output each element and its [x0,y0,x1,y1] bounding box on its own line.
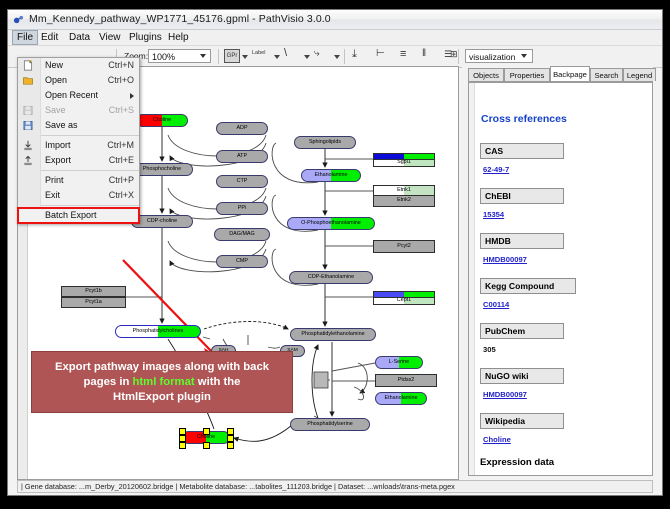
menu-item-new-accel: Ctrl+N [108,58,134,73]
line-tool-button[interactable]: \ [284,47,287,59]
menu-item-import-label: Import [45,138,71,153]
selection-handle[interactable] [227,435,234,442]
pathvisio-icon [13,14,24,25]
menu-item-exit-label: Exit [45,188,60,203]
node-ethanolamine-bottom[interactable]: Ethanolamine [375,392,427,405]
node-etnk1[interactable]: Etnk1 [373,185,435,196]
backpage-content[interactable]: Cross references CAS 62-49-7 ChEBI 15354… [468,82,653,476]
window-title: Mm_Kennedy_pathway_WP1771_45176.gpml - P… [29,13,331,25]
anchor-tool-button[interactable]: ⤷ [314,48,320,59]
node-l-serine[interactable]: L-Serine [375,356,423,369]
chevron-down-icon[interactable] [334,55,340,59]
node-dag-mag[interactable]: DAG/MAG [214,228,270,241]
cross-references-heading: Cross references [481,113,567,125]
node-ctp[interactable]: CTP [216,175,268,188]
menu-item-save-label: Save [45,103,66,118]
distribute-tool-button[interactable]: ‖ [422,48,426,59]
save-disk-icon [22,105,34,116]
selection-handle[interactable] [179,435,186,442]
node-choline-top[interactable]: Choline [136,114,188,127]
menu-help[interactable]: Help [164,31,193,44]
section-cas-label: CAS [480,143,564,159]
menu-item-exit-accel: Ctrl+X [109,188,134,203]
label-tool-button[interactable]: Label [252,50,265,56]
menu-view[interactable]: View [95,31,125,44]
tab-properties[interactable]: Properties [504,68,550,81]
menu-file[interactable]: File [12,30,38,45]
menu-item-export[interactable]: Export Ctrl+E [18,153,139,168]
section-wikipedia-label: Wikipedia [480,413,564,429]
selection-handle[interactable] [203,428,210,435]
chevron-right-icon [130,93,134,99]
node-etnk2[interactable]: Etnk2 [373,196,435,207]
chevron-down-icon[interactable] [242,55,248,59]
menu-item-print[interactable]: Print Ctrl+P [18,173,139,188]
section-chebi-link[interactable]: 15354 [483,210,504,219]
section-cas-link[interactable]: 62-49-7 [483,165,509,174]
node-phosphatidylethanolamine[interactable]: Phosphatidylethanolamine [290,328,376,341]
selection-handle[interactable] [179,428,186,435]
visualization-tool-button[interactable]: ⊞ [450,49,458,60]
node-pcyt2[interactable]: Pcyt2 [373,240,435,253]
backpage-scrollbar[interactable] [469,83,475,475]
menu-separator [40,170,139,171]
menu-bar: File Edit Data View Plugins Help [8,30,662,46]
stack-tool-button[interactable]: ≡ [400,48,406,60]
geneproduct-tool-button[interactable]: GPr [224,49,240,63]
chevron-down-icon[interactable] [521,54,527,58]
align-left-tool-button[interactable]: ⊢ [376,48,385,59]
annotation-line1: Export pathway images along with back [55,361,269,373]
menu-item-batch-export[interactable]: Batch Export [18,208,139,223]
menu-plugins[interactable]: Plugins [125,31,166,44]
toolbar-separator [458,49,459,64]
node-pcyt1b[interactable]: Pcyt1b [61,286,126,297]
annotation-text: Export pathway images along with back pa… [49,360,275,405]
node-cmp[interactable]: CMP [216,255,268,268]
menu-item-new-label: New [45,58,63,73]
menu-item-open[interactable]: Open Ctrl+O [18,73,139,88]
menu-separator [40,205,139,206]
section-kegg-label: Kegg Compound [480,278,576,294]
node-ethanolamine-top[interactable]: Ethanolamine [301,169,361,182]
section-nugo-link[interactable]: HMDB00097 [483,390,527,399]
node-phosphatidylserine[interactable]: Phosphatidylserine [290,418,370,431]
save-as-icon [22,120,34,131]
align-top-tool-button[interactable]: ⤓ [352,48,357,61]
node-pcyt1a[interactable]: Pcyt1a [61,297,126,308]
menu-data[interactable]: Data [65,31,94,44]
annotation-callout: Export pathway images along with back pa… [31,351,293,413]
node-ptdss2[interactable]: Ptdss2 [375,374,437,387]
section-hmdb-label: HMDB [480,233,564,249]
menu-item-print-accel: Ctrl+P [109,173,134,188]
chevron-down-icon[interactable] [274,55,280,59]
annotation-line3: HtmlExport plugin [113,391,211,403]
section-kegg-link[interactable]: C00114 [483,300,509,309]
selection-handle[interactable] [227,442,234,449]
node-cdp-choline[interactable]: CDP-choline [131,215,193,228]
selection-handle[interactable] [179,442,186,449]
node-sgpl1-top[interactable] [373,153,435,160]
annotation-line2a: pages in [84,376,133,388]
section-hmdb-link[interactable]: HMDB00097 [483,255,527,264]
chevron-down-icon[interactable] [200,54,206,58]
menu-item-print-label: Print [45,173,64,188]
screenshot-root: Mm_Kennedy_pathway_WP1771_45176.gpml - P… [0,0,670,509]
menu-separator [40,135,139,136]
menu-item-open-label: Open [45,73,67,88]
title-bar: Mm_Kennedy_pathway_WP1771_45176.gpml - P… [8,10,662,30]
chevron-down-icon[interactable] [304,55,310,59]
section-wikipedia-link[interactable]: Choline [483,435,511,444]
toolbar-separator [344,49,345,64]
menu-item-open-accel: Ctrl+O [108,73,134,88]
menu-item-import[interactable]: Import Ctrl+M [18,138,139,153]
expression-data-heading: Expression data [480,457,554,468]
tab-objects[interactable]: Objects [468,68,504,81]
node-sphingolipids[interactable]: Sphingolipids [294,136,356,149]
status-bar: | Gene database: ...m_Derby_20120602.bri… [17,480,653,493]
toolbar-separator [218,49,219,64]
import-icon [22,140,34,151]
menu-item-save-as[interactable]: Save as [18,118,139,133]
node-o-phosphoethanolamine[interactable]: O-Phosphoethanolamine [287,217,375,230]
menu-edit[interactable]: Edit [37,31,62,44]
node-cept1[interactable]: Cept1 [373,298,435,305]
section-chebi-label: ChEBI [480,188,564,204]
side-panel: Objects Properties Backpage Search Legen… [462,66,653,478]
menu-item-save-accel: Ctrl+S [109,103,134,118]
menu-item-save: Save Ctrl+S [18,103,139,118]
menu-item-exit[interactable]: Exit Ctrl+X [18,188,139,203]
interaction-node [314,372,328,388]
menu-item-export-label: Export [45,153,71,168]
menu-item-open-recent-label: Open Recent [45,88,98,103]
section-pubchem-value: 305 [483,345,496,354]
node-ppi[interactable]: PPi [216,202,268,215]
file-menu-dropdown[interactable]: New Ctrl+N Open Ctrl+O Open Recent [17,57,140,224]
node-phosphatidylcholines[interactable]: Phosphatidylcholines [115,325,201,338]
node-phosphocholine[interactable]: Phosphocholine [131,163,193,176]
new-document-icon [22,60,34,71]
section-pubchem-label: PubChem [480,323,564,339]
menu-item-save-as-label: Save as [45,118,78,133]
menu-item-import-accel: Ctrl+M [107,138,134,153]
menu-item-export-accel: Ctrl+E [109,153,134,168]
node-adp[interactable]: ADP [216,122,268,135]
section-nugo-label: NuGO wiki [480,368,564,384]
annotation-line2c: with the [195,376,241,388]
node-cdp-ethanolamine[interactable]: CDP-Ethanolamine [289,271,373,284]
application-window: Mm_Kennedy_pathway_WP1771_45176.gpml - P… [7,9,663,496]
open-folder-icon [22,75,34,86]
menu-item-batch-export-label: Batch Export [45,208,97,223]
node-cept1-top[interactable] [373,291,435,298]
node-atp[interactable]: ATP [216,150,268,163]
node-sgpl1[interactable]: Sgpl1 [373,160,435,167]
menu-item-open-recent[interactable]: Open Recent [18,88,139,103]
export-icon [22,155,34,166]
tab-search[interactable]: Search [590,68,623,81]
tab-backpage[interactable]: Backpage [550,66,590,81]
selection-handle[interactable] [203,442,210,449]
tab-legend[interactable]: Legend [623,68,656,81]
selection-handle[interactable] [227,428,234,435]
menu-item-new[interactable]: New Ctrl+N [18,58,139,73]
annotation-highlight: html format [133,376,195,388]
